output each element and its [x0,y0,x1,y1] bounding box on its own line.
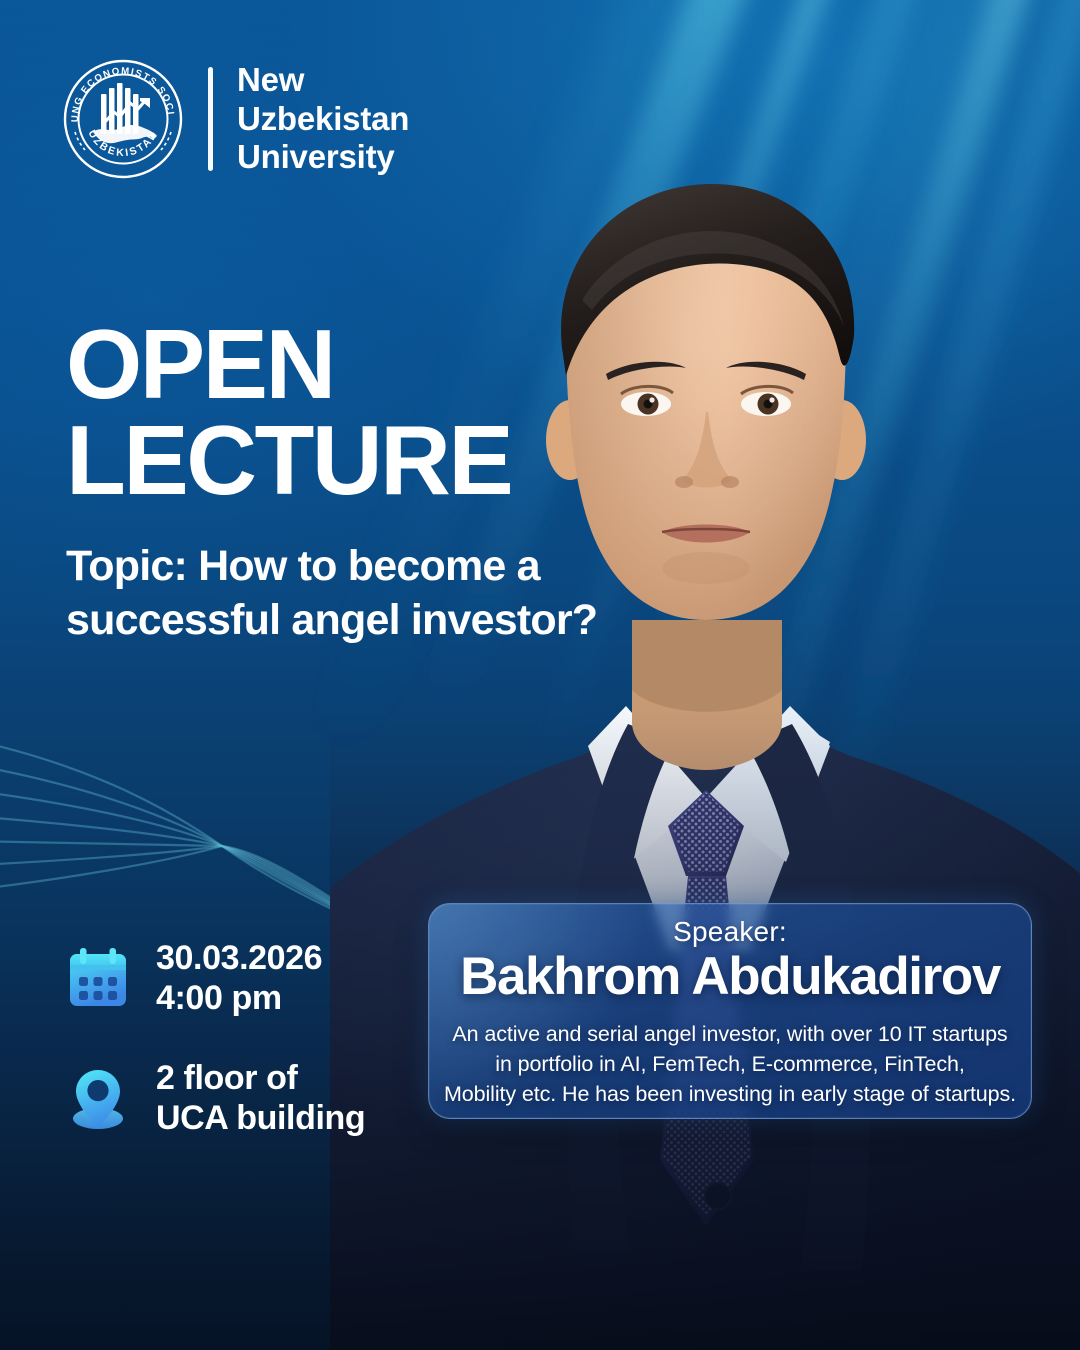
detail-row-date: 30.03.2026 4:00 pm [64,938,365,1018]
brand-header: YOUNG ECONOMISTS SOCIETY UZBEKISTAN [62,58,409,180]
lecture-topic: Topic: How to become a successful angel … [66,540,666,648]
event-location: 2 floor of UCA building [156,1058,365,1138]
young-economists-society-seal-icon: YOUNG ECONOMISTS SOCIETY UZBEKISTAN [62,58,184,180]
detail-row-location: 2 floor of UCA building [64,1058,365,1138]
speaker-name: Bakhrom Abdukadirov [443,946,1017,1007]
headline-line-2: LECTURE [66,412,686,508]
brand-divider [208,67,213,171]
speaker-label: Speaker: [443,916,1017,948]
calendar-icon [64,944,132,1012]
event-details: 30.03.2026 4:00 pm [64,938,365,1178]
location-pin-icon [64,1064,132,1132]
headline-block: OPEN LECTURE [66,316,686,508]
university-name: New Uzbekistan University [237,61,409,177]
headline-line-1: OPEN [66,316,686,412]
uzbekistan-map-emblem-icon [93,83,157,143]
event-datetime: 30.03.2026 4:00 pm [156,938,322,1018]
poster-canvas: YOUNG ECONOMISTS SOCIETY UZBEKISTAN [0,0,1080,1350]
speaker-info-card: Speaker: Bakhrom Abdukadirov An active a… [428,903,1032,1119]
speaker-bio: An active and serial angel investor, wit… [443,1019,1017,1109]
